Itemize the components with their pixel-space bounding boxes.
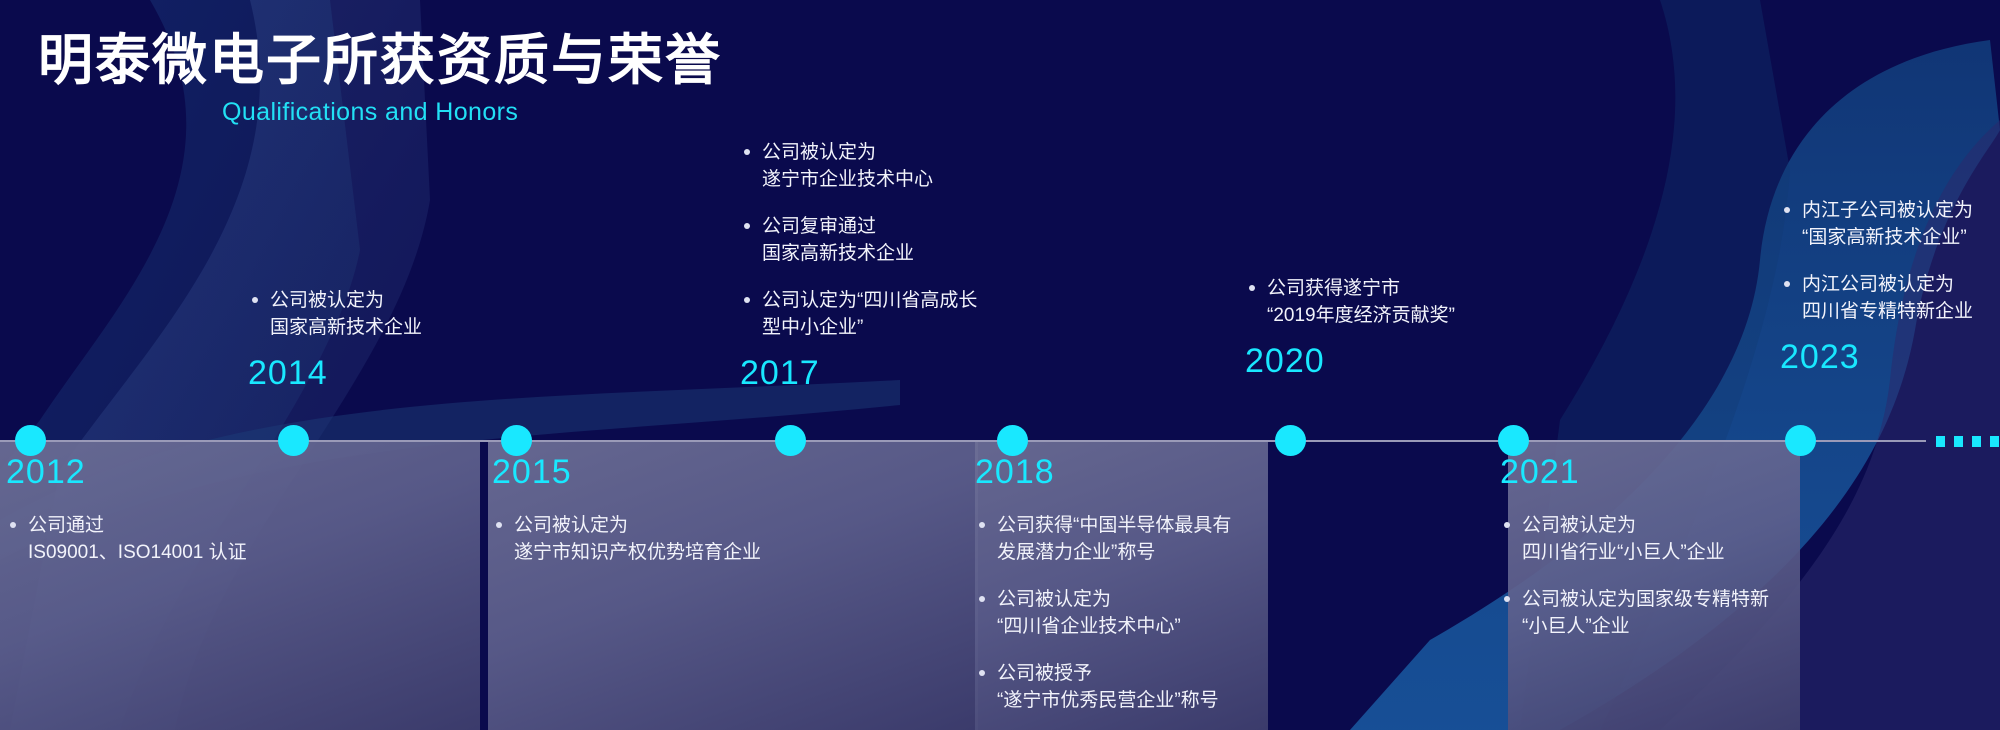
timeline-bullet-item: 公司被认定为国家级专精特新 “小巨人”企业: [1500, 587, 1820, 641]
axis-dash: [1954, 436, 1963, 447]
timeline-year-label-2012: 2012: [6, 455, 306, 489]
timeline-dot-2012[interactable]: [15, 425, 46, 456]
timeline-year-label-2017: 2017: [740, 356, 1040, 390]
timeline-bullet-item: 公司获得“中国半导体最具有 发展潜力企业”称号: [975, 513, 1275, 567]
timeline-bullet-item: 公司通过 IS09001、ISO14001 认证: [6, 513, 306, 567]
timeline-bullet-item: 内江公司被认定为 四川省专精特新企业: [1780, 272, 2000, 326]
timeline-bullet-item: 公司被授予 “遂宁市优秀民营企业”称号: [975, 661, 1275, 715]
timeline-bullet-item: 公司被认定为 “四川省企业技术中心”: [975, 587, 1275, 641]
timeline-bullet-list-2020: 公司获得遂宁市 “2019年度经济贡献奖”: [1245, 276, 1545, 330]
timeline-bullet-list-2023: 内江子公司被认定为 “国家高新技术企业”内江公司被认定为 四川省专精特新企业: [1780, 198, 2000, 326]
timeline-bullet-item: 公司被认定为 遂宁市知识产权优势培育企业: [492, 513, 782, 567]
slide-canvas: 明泰微电子所获资质与荣誉 Qualifications and Honors 2…: [0, 0, 2000, 730]
timeline-bullet-item: 公司复审通过 国家高新技术企业: [740, 214, 1040, 268]
timeline-year-label-2020: 2020: [1245, 344, 1545, 378]
timeline-year-label-2018: 2018: [975, 455, 1275, 489]
timeline-entry-2012: 2012公司通过 IS09001、ISO14001 认证: [6, 455, 306, 567]
timeline-bullet-item: 公司获得遂宁市 “2019年度经济贡献奖”: [1245, 276, 1545, 330]
timeline-dot-2021[interactable]: [1498, 425, 1529, 456]
timeline-dot-2020[interactable]: [1275, 425, 1306, 456]
page-title: 明泰微电子所获资质与荣誉: [38, 30, 722, 92]
timeline-entry-2020: 公司获得遂宁市 “2019年度经济贡献奖”2020: [1245, 276, 1545, 378]
timeline-bullet-item: 公司被认定为 遂宁市企业技术中心: [740, 140, 1040, 194]
timeline-bullet-list-2012: 公司通过 IS09001、ISO14001 认证: [6, 513, 306, 567]
timeline-bullet-list-2018: 公司获得“中国半导体最具有 发展潜力企业”称号公司被认定为 “四川省企业技术中心…: [975, 513, 1275, 715]
timeline-entry-2018: 2018公司获得“中国半导体最具有 发展潜力企业”称号公司被认定为 “四川省企业…: [975, 455, 1275, 715]
timeline-bullet-list-2015: 公司被认定为 遂宁市知识产权优势培育企业: [492, 513, 782, 567]
timeline-entry-2023: 内江子公司被认定为 “国家高新技术企业”内江公司被认定为 四川省专精特新企业20…: [1780, 198, 2000, 374]
timeline-dot-2017[interactable]: [775, 425, 806, 456]
timeline-dot-2018[interactable]: [997, 425, 1028, 456]
axis-dash: [1990, 436, 1999, 447]
timeline-entry-2014: 公司被认定为 国家高新技术企业2014: [248, 288, 548, 390]
timeline-year-label-2023: 2023: [1780, 340, 2000, 374]
timeline-bullet-item: 公司被认定为 四川省行业“小巨人”企业: [1500, 513, 1820, 567]
timeline-bullet-list-2017: 公司被认定为 遂宁市企业技术中心公司复审通过 国家高新技术企业公司认定为“四川省…: [740, 140, 1040, 342]
timeline-bullet-list-2014: 公司被认定为 国家高新技术企业: [248, 288, 548, 342]
timeline-year-label-2015: 2015: [492, 455, 782, 489]
timeline-entry-2021: 2021公司被认定为 四川省行业“小巨人”企业公司被认定为国家级专精特新 “小巨…: [1500, 455, 1820, 641]
timeline-bullet-item: 公司被认定为 国家高新技术企业: [248, 288, 548, 342]
timeline-dot-2015[interactable]: [501, 425, 532, 456]
slide-header: 明泰微电子所获资质与荣誉 Qualifications and Honors: [38, 30, 722, 127]
timeline-bullet-list-2021: 公司被认定为 四川省行业“小巨人”企业公司被认定为国家级专精特新 “小巨人”企业: [1500, 513, 1820, 641]
timeline-entry-2015: 2015公司被认定为 遂宁市知识产权优势培育企业: [492, 455, 782, 567]
axis-dash: [1936, 436, 1945, 447]
axis-dash: [1972, 436, 1981, 447]
timeline-year-label-2014: 2014: [248, 356, 548, 390]
timeline-bullet-item: 公司认定为“四川省高成长 型中小企业”: [740, 288, 1040, 342]
page-subtitle: Qualifications and Honors: [222, 98, 722, 127]
timeline-bullet-item: 内江子公司被认定为 “国家高新技术企业”: [1780, 198, 2000, 252]
timeline-axis-end-dashes: [1936, 436, 2000, 447]
timeline-dot-2014[interactable]: [278, 425, 309, 456]
timeline-entry-2017: 公司被认定为 遂宁市企业技术中心公司复审通过 国家高新技术企业公司认定为“四川省…: [740, 140, 1040, 390]
timeline-year-label-2021: 2021: [1500, 455, 1820, 489]
timeline-dot-2023[interactable]: [1785, 425, 1816, 456]
